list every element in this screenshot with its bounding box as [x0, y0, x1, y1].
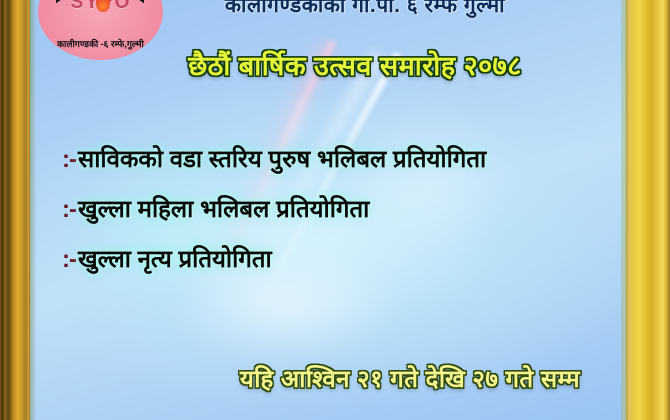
list-item-label: खुल्ला नृत्य प्रतियोगिता — [78, 242, 272, 275]
poster-title: छैठौं बार्षिक उत्सव समारोह २०७८ — [120, 46, 590, 83]
event-poster: SYPO कालीगण्डकी -६ रम्फे,गुल्मी कालीगण्ड… — [0, 0, 670, 420]
list-item: :- साविकको वडा स्तरिय पुरुष भलिबल प्रतिय… — [62, 142, 622, 175]
list-item-label: साविकको वडा स्तरिय पुरुष भलिबल प्रतियोगि… — [78, 142, 486, 175]
list-item: :- खुल्ला महिला भलिबल प्रतियोगिता — [62, 192, 622, 225]
left-gold-frame — [0, 0, 30, 420]
list-item-bullet: :- — [62, 246, 76, 274]
list-item: :- खुल्ला नृत्य प्रतियोगिता — [62, 242, 622, 275]
list-item-bullet: :- — [62, 146, 76, 174]
event-list: :- साविकको वडा स्तरिय पुरुष भलिबल प्रतिय… — [62, 142, 622, 292]
left-frame-inner-edge — [30, 0, 36, 420]
right-gold-frame — [626, 0, 670, 420]
poster-header-line: कालीगण्डकीको गा.पा. ६ रम्फे गुल्मी — [150, 0, 580, 19]
poster-date-line: यहि आश्विन २१ गते देखि २७ गते सम्म — [190, 362, 630, 395]
list-item-label: खुल्ला महिला भलिबल प्रतियोगिता — [78, 192, 369, 225]
list-item-bullet: :- — [62, 196, 76, 224]
